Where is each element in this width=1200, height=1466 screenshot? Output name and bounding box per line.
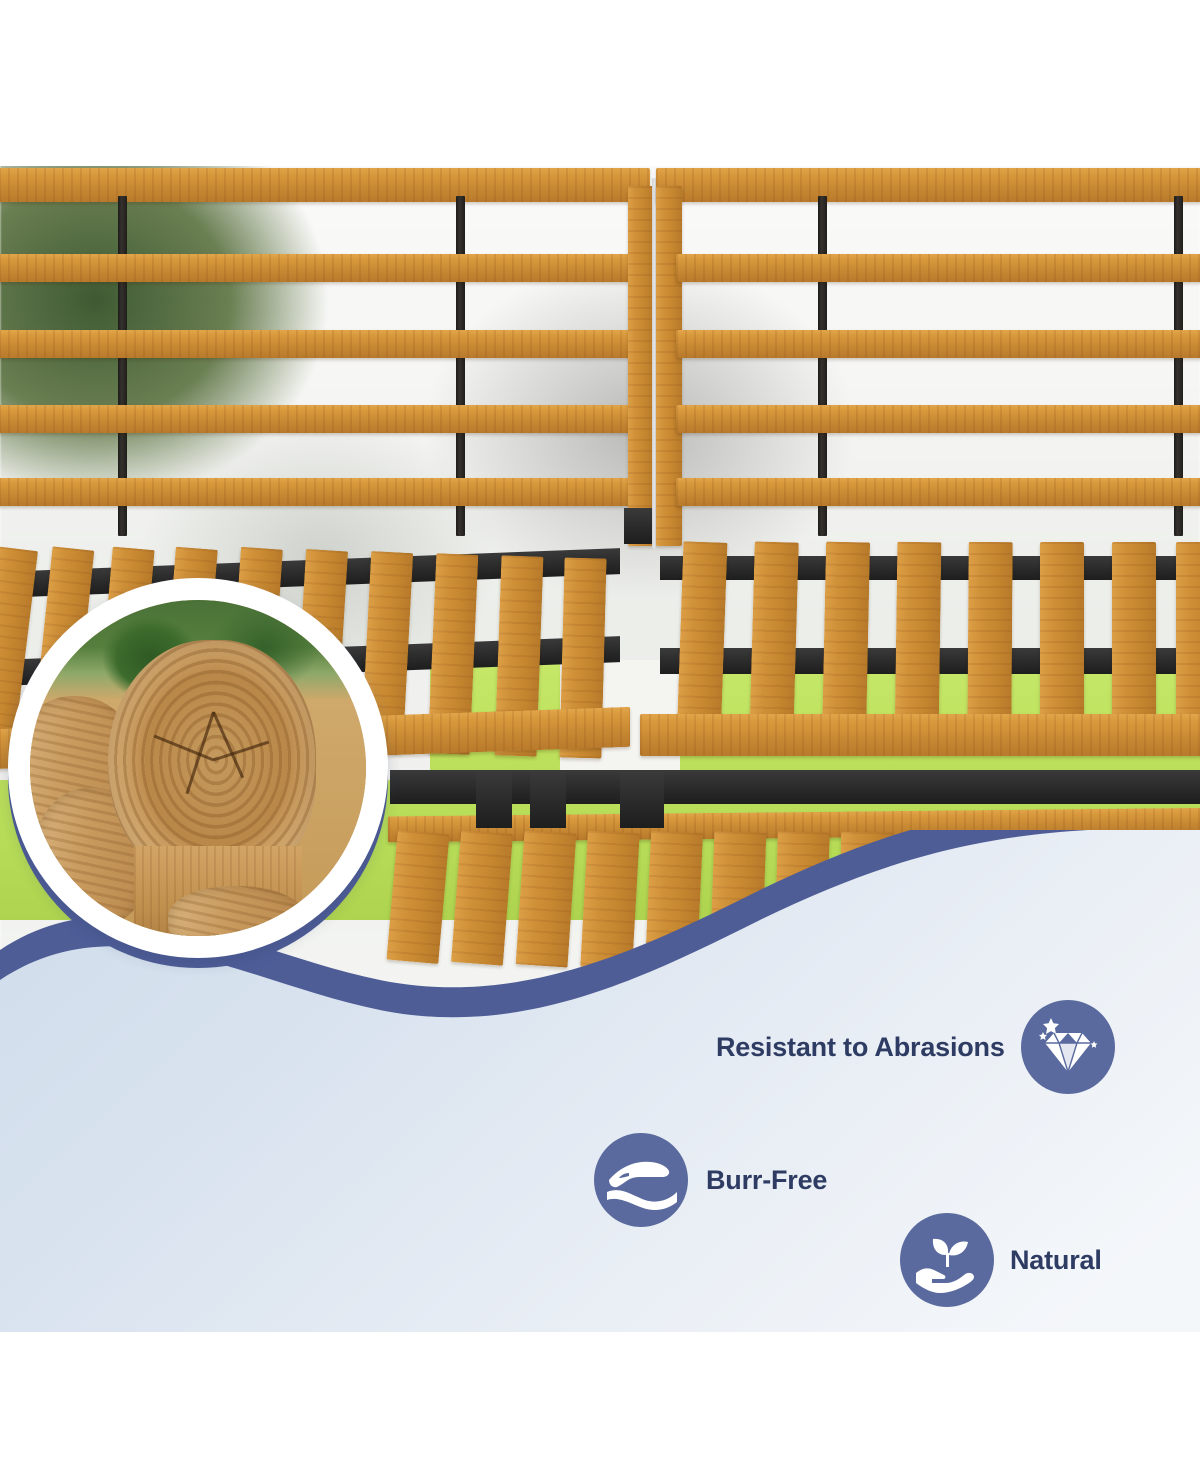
hand-holding-leaf-icon: [900, 1213, 994, 1307]
backrest-rail: [0, 254, 640, 282]
ottoman-leg: [620, 772, 664, 828]
corner-post: [628, 186, 654, 546]
seat-front-rail: [640, 714, 1200, 756]
backrest-rail: [676, 330, 1200, 358]
seat-slat: [749, 541, 799, 742]
seat-slat: [895, 542, 942, 743]
seat-slat: [822, 542, 870, 743]
backrest-rail: [676, 478, 1200, 506]
backrest-rail: [0, 168, 650, 202]
diamond-sparkle-icon: [1021, 1000, 1115, 1094]
wood-logs-closeup: [30, 600, 366, 936]
seat-slat: [1112, 542, 1156, 742]
top-white-band: [0, 0, 1200, 166]
backrest-rail: [0, 405, 640, 433]
feature-natural: Natural: [900, 1213, 1102, 1307]
smooth-hand-icon: [594, 1133, 688, 1227]
backrest-rail: [0, 330, 640, 358]
product-infographic: Selected ACACIA WOOD For long-time outdo…: [0, 0, 1200, 1466]
bottom-white-band: [0, 1332, 1200, 1466]
seat-slat: [677, 541, 728, 742]
seat-slat: [1040, 542, 1084, 742]
seat-slat: [1176, 542, 1200, 742]
feature-burr-free: Burr-Free: [594, 1133, 827, 1227]
backrest-rail: [676, 405, 1200, 433]
feature-label: Resistant to Abrasions: [716, 1032, 1005, 1063]
ottoman-leg: [476, 772, 512, 828]
backrest-rail: [676, 254, 1200, 282]
backrest-rail: [656, 168, 1200, 202]
feature-label: Burr-Free: [706, 1165, 827, 1196]
feature-resistant-to-abrasions: Resistant to Abrasions: [716, 1000, 1115, 1094]
feature-label: Natural: [1010, 1245, 1102, 1276]
seat-slat: [967, 542, 1012, 742]
backrest-rail: [0, 478, 640, 506]
ottoman-leg: [530, 772, 566, 828]
